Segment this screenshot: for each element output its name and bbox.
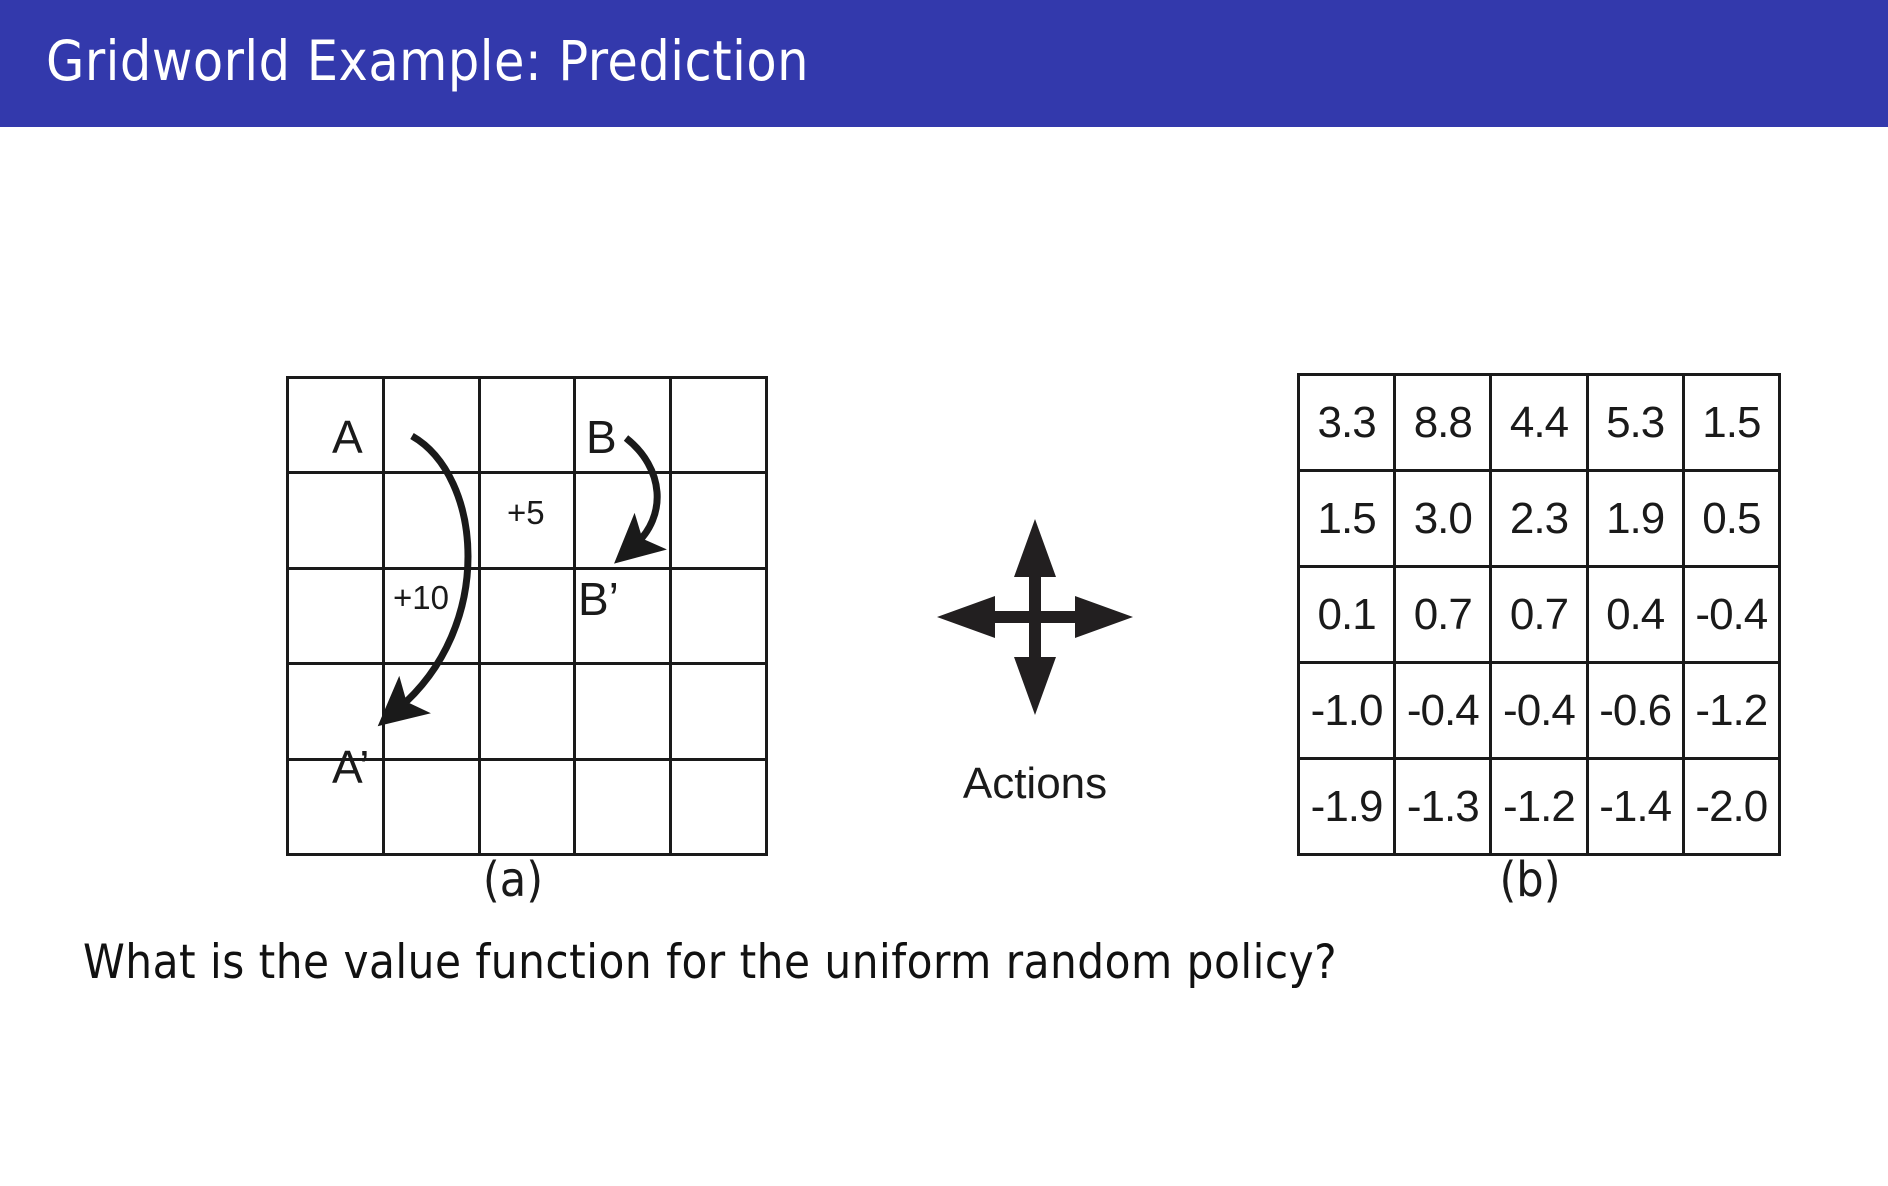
grid-cell	[671, 759, 767, 854]
grid-cell	[383, 664, 479, 759]
value-cell: -0.4	[1395, 663, 1491, 759]
value-cell: 4.4	[1491, 375, 1587, 471]
value-cell: -1.2	[1683, 663, 1779, 759]
value-cell: 0.1	[1299, 567, 1395, 663]
table-row	[288, 568, 767, 663]
slide-content: A B B’ A’ +10 +5 Actions 3.3 8.8	[0, 127, 1888, 1186]
figure-caption-a: (a)	[413, 852, 613, 908]
value-cell: 5.3	[1587, 375, 1683, 471]
grid-cell	[288, 568, 384, 663]
state-label-a-prime: A’	[332, 744, 370, 790]
value-cell: -1.3	[1395, 759, 1491, 855]
state-label-b: B	[586, 414, 617, 460]
value-cell: 3.3	[1299, 375, 1395, 471]
grid-cell	[671, 378, 767, 473]
reward-label-plus5: +5	[507, 496, 545, 529]
grid-cell	[575, 759, 671, 854]
value-cell: -2.0	[1683, 759, 1779, 855]
grid-cell	[288, 473, 384, 568]
grid-cell	[575, 473, 671, 568]
value-cell: 0.4	[1587, 567, 1683, 663]
grid-cell	[671, 664, 767, 759]
value-cell: -0.4	[1683, 567, 1779, 663]
table-row: 0.1 0.7 0.7 0.4 -0.4	[1299, 567, 1780, 663]
actions-cross-icon	[925, 507, 1145, 727]
question-text: What is the value function for the unifo…	[0, 935, 1420, 990]
value-cell: 3.0	[1395, 471, 1491, 567]
grid-cell	[671, 473, 767, 568]
value-cell: -1.0	[1299, 663, 1395, 759]
grid-cell	[479, 378, 575, 473]
figure-caption-b: (b)	[1430, 852, 1630, 908]
value-cell: 0.7	[1395, 567, 1491, 663]
table-row: -1.9 -1.3 -1.2 -1.4 -2.0	[1299, 759, 1780, 855]
value-cell: 2.3	[1491, 471, 1587, 567]
table-row: 3.3 8.8 4.4 5.3 1.5	[1299, 375, 1780, 471]
value-cell: 1.5	[1299, 471, 1395, 567]
grid-cell	[383, 759, 479, 854]
value-cell: -0.4	[1491, 663, 1587, 759]
grid-cell	[479, 568, 575, 663]
value-table: 3.3 8.8 4.4 5.3 1.5 1.5 3.0 2.3 1.9 0.5 …	[1297, 373, 1781, 856]
grid-cell	[383, 473, 479, 568]
slide-header-bar: Gridworld Example: Prediction	[0, 0, 1888, 127]
reward-label-plus10: +10	[393, 581, 449, 614]
value-function-grid-b: 3.3 8.8 4.4 5.3 1.5 1.5 3.0 2.3 1.9 0.5 …	[1297, 373, 1763, 838]
value-cell: -1.9	[1299, 759, 1395, 855]
value-cell: 0.7	[1491, 567, 1587, 663]
page-title: Gridworld Example: Prediction	[46, 16, 809, 106]
actions-diagram: Actions	[925, 507, 1145, 847]
value-cell: -1.2	[1491, 759, 1587, 855]
value-cell: 0.5	[1683, 471, 1779, 567]
grid-cell	[479, 759, 575, 854]
state-label-b-prime: B’	[578, 576, 619, 622]
table-row: -1.0 -0.4 -0.4 -0.6 -1.2	[1299, 663, 1780, 759]
value-cell: 1.9	[1587, 471, 1683, 567]
table-row: 1.5 3.0 2.3 1.9 0.5	[1299, 471, 1780, 567]
value-cell: 1.5	[1683, 375, 1779, 471]
grid-cell	[575, 664, 671, 759]
value-cell: -0.6	[1587, 663, 1683, 759]
grid-cell	[383, 378, 479, 473]
value-cell: 8.8	[1395, 375, 1491, 471]
grid-cell	[479, 664, 575, 759]
state-label-a: A	[332, 414, 363, 460]
actions-label: Actions	[925, 759, 1145, 809]
gridworld-diagram-a: A B B’ A’ +10 +5	[286, 376, 750, 838]
grid-cell	[671, 568, 767, 663]
value-cell: -1.4	[1587, 759, 1683, 855]
